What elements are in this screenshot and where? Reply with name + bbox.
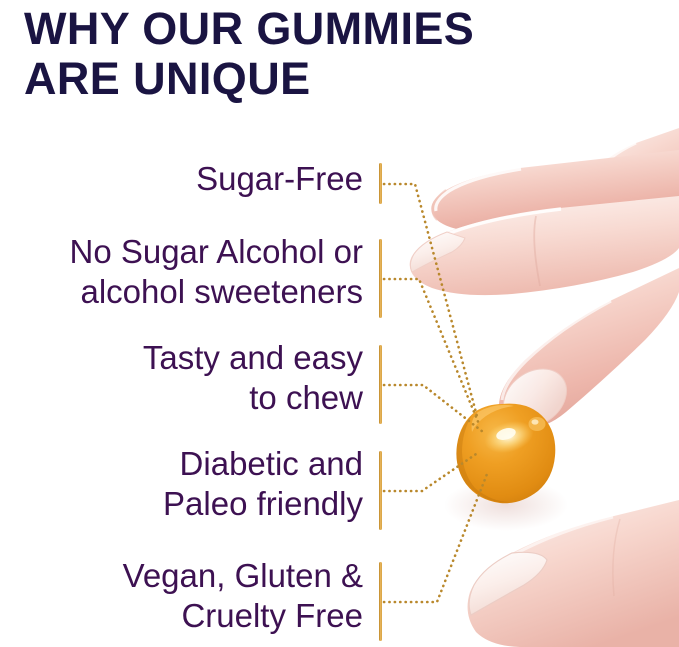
benefit-item-no-sugar-alcohol: No Sugar Alcohol or alcohol sweeteners [0,232,379,312]
connector-line-5 [384,474,487,602]
connector-line-1 [384,184,478,420]
connector-line-4 [384,452,479,491]
tick-bar-2 [379,239,382,318]
benefits-list: Sugar-Free No Sugar Alcohol or alcohol s… [0,0,379,647]
benefit-item-sugar-free: Sugar-Free [0,159,379,199]
connector-line-2 [384,279,479,424]
gummy-candy [456,404,555,504]
tick-bar-5 [379,562,382,641]
tick-bar-1 [379,163,382,204]
gummy-shadow [444,479,568,531]
finger-upper-back [581,128,679,229]
finger-index-front [410,196,679,295]
benefit-item-tasty-easy-to-chew: Tasty and easy to chew [0,338,379,418]
benefit-item-vegan-gluten-cruelty-free: Vegan, Gluten & Cruelty Free [0,556,379,636]
thumb [468,500,679,647]
connector-line-3 [384,385,483,432]
finger-middle [431,150,679,233]
finger-pinch-upper [492,268,679,439]
product-benefits-infographic: WHY OUR GUMMIES ARE UNIQUE Sugar-Free No… [0,0,679,647]
tick-bar-4 [379,451,382,530]
benefit-item-diabetic-paleo-friendly: Diabetic and Paleo friendly [0,444,379,524]
tick-bar-3 [379,345,382,424]
